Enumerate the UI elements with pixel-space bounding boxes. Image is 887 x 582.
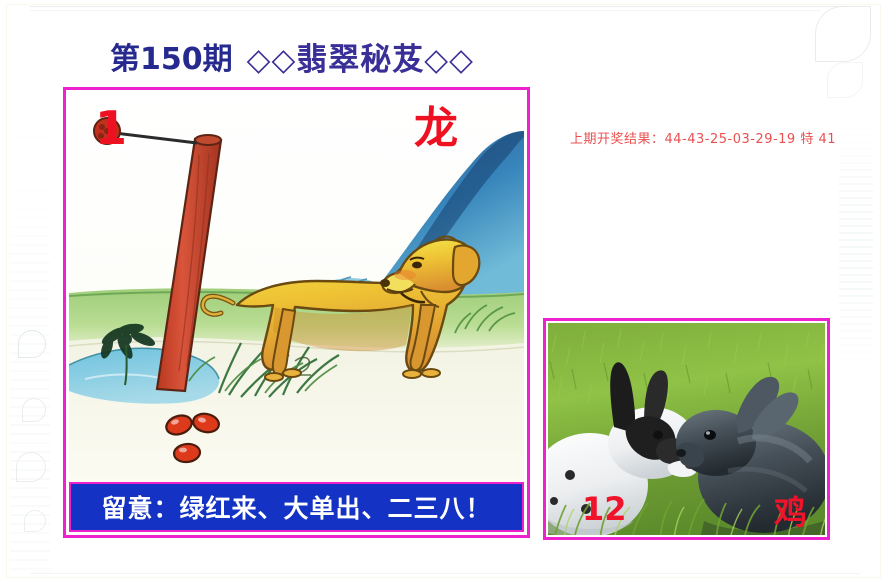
secondary-number: 12: [582, 493, 627, 525]
decorative-band-right: [839, 120, 873, 370]
secondary-zodiac: 鸡: [774, 496, 807, 529]
decorative-band-left: [10, 10, 50, 570]
decorative-leaf-icon: [18, 330, 46, 358]
decorative-leaf-icon: [16, 452, 46, 482]
caption-bar: 留意：绿红来、大单出、二三八！: [69, 482, 524, 532]
decorative-leaf-icon: [22, 398, 46, 422]
main-picture-card: 1 龙 留意：绿红来、大单出、二三八！: [63, 87, 530, 538]
decorative-rule-top-secondary: [30, 10, 820, 11]
main-number: 1: [95, 105, 127, 151]
last-draw-results: 上期开奖结果：44-43-25-03-29-19 特 41: [570, 128, 836, 147]
page-title: ◇◇翡翠秘芨◇◇: [247, 34, 474, 79]
decorative-corner-top-right-small: [827, 62, 863, 98]
decorative-corner-top-right: [815, 6, 871, 62]
decorative-rule-bottom: [30, 573, 860, 574]
decorative-rule-top: [30, 6, 850, 7]
secondary-picture-card: 12 鸡: [543, 318, 830, 540]
decorative-leaf-icon: [24, 510, 46, 532]
issue-label: 第150期: [110, 34, 233, 78]
caption-text: 留意：绿红来、大单出、二三八！: [101, 489, 491, 525]
page-header: 第150期 ◇◇翡翠秘芨◇◇: [110, 32, 474, 80]
rabbits-photo: 12 鸡: [548, 323, 825, 535]
main-zodiac: 龙: [414, 107, 458, 151]
poster-page: 第150期 ◇◇翡翠秘芨◇◇ 上期开奖结果：44-43-25-03-29-19 …: [0, 0, 887, 582]
main-illustration: 1 龙: [69, 93, 524, 483]
